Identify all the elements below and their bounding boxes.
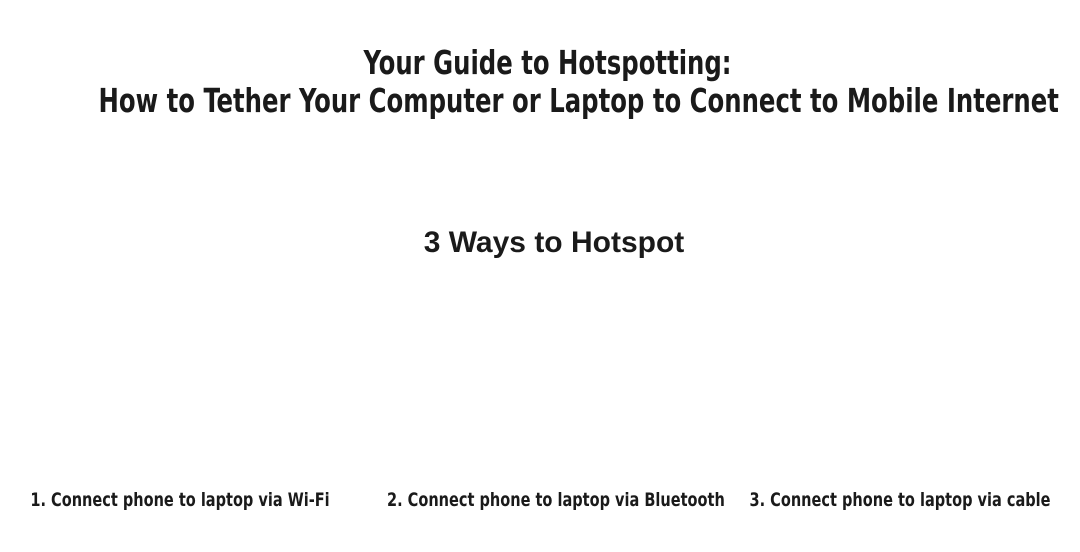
illustration-band [0, 285, 1080, 475]
caption-method-1: 1. Connect phone to laptop via Wi-Fi [27, 487, 333, 517]
page-title: Your Guide to Hotspotting: How to Tether… [0, 44, 1080, 120]
caption-method-3: 3. Connect phone to laptop via cable [747, 487, 1053, 517]
caption-row: 1. Connect phone to laptop via Wi-Fi 2. … [0, 487, 1080, 517]
infographic-page: Your Guide to Hotspotting: How to Tether… [0, 0, 1080, 552]
illustration-slot-cable [720, 285, 1080, 475]
illustration-slot-wifi [0, 285, 360, 475]
title-line-1: Your Guide to Hotspotting: [99, 44, 997, 82]
section-heading: 3 Ways to Hotspot [0, 224, 1080, 262]
illustration-slot-bluetooth [360, 285, 720, 475]
caption-method-2: 2. Connect phone to laptop via Bluetooth [387, 487, 693, 517]
title-line-2: How to Tether Your Computer or Laptop to… [99, 82, 997, 120]
